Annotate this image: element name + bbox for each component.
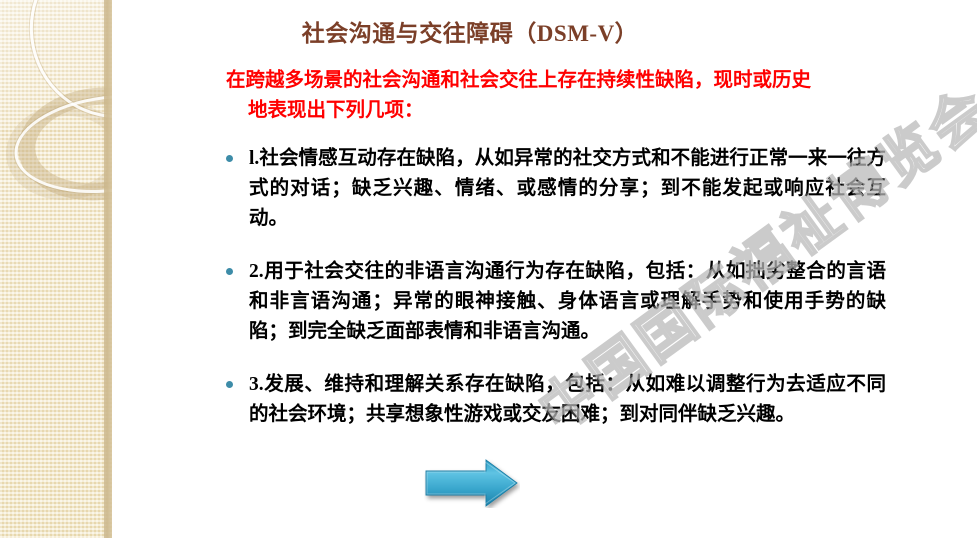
slide-canvas: 社会沟通与交往障碍（DSM-V） 在跨越多场景的社会沟通和社会交往上存在持续性缺… [0,0,977,538]
sidebar-edge-highlight [967,0,969,538]
list-item: 2.用于社会交往的非语言沟通行为存在缺陷，包括：从如拙劣整合的言语和非言语沟通；… [226,257,886,347]
list-item-text: l.社会情感互动存在缺陷，从如异常的社交方式和不能进行正常一来一往方式的对话；缺… [249,144,886,234]
list-item-text: 2.用于社会交往的非语言沟通行为存在缺陷，包括：从如拙劣整合的言语和非言语沟通；… [249,257,886,347]
decorative-sidebar [0,0,112,538]
list-item-text: 3.发展、维持和理解关系存在缺陷，包括：从如难以调整行为去适应不同的社会环境；共… [249,370,886,430]
lead-line-1: 在跨越多场景的社会沟通和社会交往上存在持续性缺陷，现时或历史 [226,70,811,91]
right-arrow-shape [424,458,520,508]
bullet-dot-icon [226,155,233,162]
list-item: 3.发展、维持和理解关系存在缺陷，包括：从如难以调整行为去适应不同的社会环境；共… [226,370,886,430]
list-item: l.社会情感互动存在缺陷，从如异常的社交方式和不能进行正常一来一往方式的对话；缺… [226,144,886,234]
lead-line-2: 地表现出下列几项： [226,96,886,126]
sidebar-edge-stripe [104,0,112,538]
slide-title: 社会沟通与交往障碍（DSM-V） [160,14,780,48]
bullet-dot-icon [226,268,233,275]
bullet-dot-icon [226,381,233,388]
slide-body: 在跨越多场景的社会沟通和社会交往上存在持续性缺陷，现时或历史 地表现出下列几项：… [226,66,886,453]
right-arrow-icon [424,458,520,508]
lead-paragraph: 在跨越多场景的社会沟通和社会交往上存在持续性缺陷，现时或历史 地表现出下列几项： [226,66,886,126]
